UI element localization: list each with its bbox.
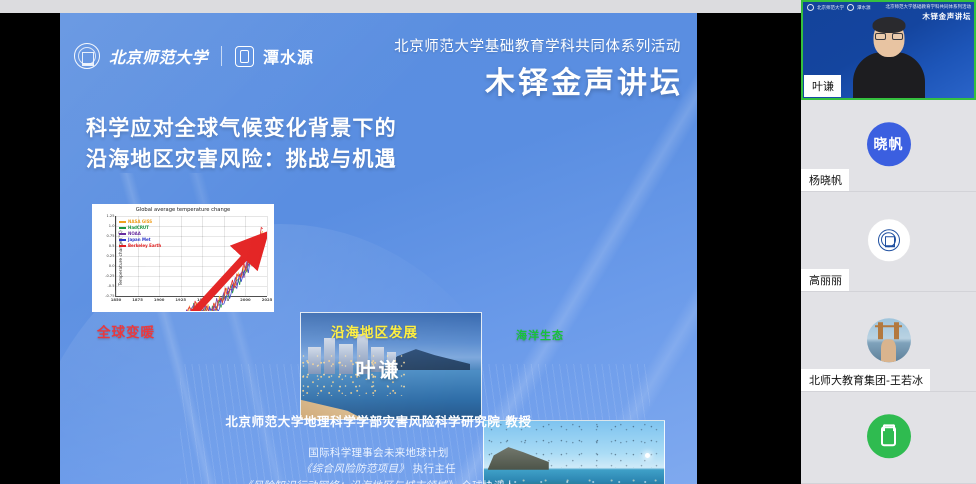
slide-title-line-1: 科学应对全球气候变化背景下的 [86,113,397,144]
video-slide-logo-text: 北京师范大学 [817,5,844,11]
forum-title: 木铎金声讲坛 [485,58,683,102]
presentation-slide: 北京师范大学 潭水源 北京师范大学基础教育学科共同体系列活动 木铎金声讲坛 科学… [60,13,697,484]
video-slide-partner-text: 潭水源 [857,5,871,11]
role-line-3: 《风险知识行动网络：沿海地区与城市领域》 全球协调人 [60,478,697,484]
speaker-affiliation: 北京师范大学地理科学学部灾害风险科学研究院 教授 [60,411,697,430]
shared-screen-stage[interactable]: 北京师范大学 潭水源 北京师范大学基础教育学科共同体系列活动 木铎金声讲坛 科学… [0,13,801,484]
chart-y-tick: 0.0 [109,264,115,268]
chart-y-tick: 0.25 [106,254,114,258]
chart-x-tick: 1850 [111,297,122,302]
avatar [867,318,911,362]
role-2-role: 执行主任 [413,463,456,475]
building [324,338,335,374]
participant-name-label: 叶谦 [804,75,841,97]
chart-series-japan-met [151,235,263,312]
caption-global-warming: 全球变暖 [97,321,155,341]
legend-label: Berkeley Earth [128,243,161,249]
building [371,347,384,372]
chart-x-tick: 1950 [197,297,208,302]
city-lights [301,353,405,395]
building [339,344,353,375]
bnu-seal-icon [878,229,900,251]
legend-swatch [119,245,126,246]
speaker-video-figure [852,16,926,98]
coastal-city-photo [300,312,482,420]
speaker-hair [872,17,905,33]
chart-y-tick: 0.5 [109,244,115,248]
sea-shape [301,370,481,419]
role-line-1: 国际科学理事会未来地球计划 [60,445,697,461]
video-slide-forum-title: 木铎金声讲坛 [922,11,971,22]
glasses-icon [875,33,903,40]
participant-tile-app[interactable] [801,392,976,484]
chart-legend-item: Berkeley Earth [119,243,161,249]
video-slide-logos: 北京师范大学 潭水源 [807,4,871,11]
chart-y-tick: 0.75 [106,234,114,238]
building [387,352,396,371]
chart-legend: NASA GISSHadCRUTNOAAJapan MetBerkeley Ea… [119,219,161,249]
chart-y-tick: -0.75 [105,294,114,298]
participant-rail[interactable]: 北京师范大学 潭水源 北京师范大学基础教育学科共同体系列活动 木铎金声讲坛 叶谦… [801,0,976,484]
caption-coastal-development: 沿海地区发展 [331,321,418,341]
beach-shape [301,387,402,419]
legend-swatch [119,221,126,222]
bnu-seal-icon [74,43,100,69]
chart-x-tick: 1975 [219,297,230,302]
headland-shape [377,347,471,375]
event-series-line: 北京师范大学基础教育学科共同体系列活动 [394,35,681,56]
participant-name-label: 北师大教育集团-王若冰 [801,369,930,391]
participant-name-label: 杨晓帆 [801,169,849,191]
chart-y-tick: 1.0 [109,224,115,228]
legend-swatch [119,227,126,228]
caption-marine-ecology: 海洋生态 [516,327,564,343]
chart-x-tick: 2000 [240,297,251,302]
role-2-title: 《综合风险防范项目》 [301,463,409,475]
chart-title: Global average temperature change [93,207,273,213]
logo-divider [221,46,222,66]
speaker-roles: 国际科学理事会未来地球计划 《综合风险防范项目》 执行主任 《风险知识行动网络：… [60,445,697,484]
temperature-chart-card: Global average temperature change Temper… [92,204,274,312]
slide-title-line-2: 沿海地区灾害风险：挑战与机遇 [86,144,397,175]
avatar: 晓帆 [867,122,911,166]
role-line-2: 《综合风险防范项目》 执行主任 [60,461,697,477]
slide-title: 科学应对全球气候变化背景下的 沿海地区灾害风险：挑战与机遇 [86,113,397,174]
building [357,334,368,374]
bnu-seal-icon [807,4,814,11]
meeting-screen: 北京师范大学 潭水源 北京师范大学基础教育学科共同体系列活动 木铎金声讲坛 科学… [0,0,976,484]
partner-brand-icon [235,46,254,67]
slide-image-row: Global average temperature change Temper… [92,204,667,314]
speaker-torso [853,52,925,98]
building [308,347,321,375]
partner-logo-text: 潭水源 [263,44,314,68]
partner-brand-icon [847,4,854,11]
video-slide-series-line: 北京师范大学基础教育学科共同体系列活动 [886,4,972,10]
participant-tile-wangruobing[interactable]: 北师大教育集团-王若冰 [801,292,976,392]
participant-name-label: 高丽丽 [801,269,849,291]
app-document-icon [881,426,896,446]
chart-x-tick: 1900 [154,297,165,302]
avatar [867,414,911,458]
legend-swatch [119,239,126,240]
role-3-title: 《风险知识行动网络：沿海地区与城市领域》 [242,480,458,484]
chart-y-tick: 1.25 [106,214,114,218]
chart-x-tick: 1875 [132,297,143,302]
chart-x-tick: 1925 [175,297,186,302]
participant-tile-active-speaker[interactable]: 北京师范大学 潭水源 北京师范大学基础教育学科共同体系列活动 木铎金声讲坛 叶谦 [801,0,976,100]
logo-group: 北京师范大学 潭水源 [74,43,314,69]
avatar [867,218,911,262]
university-logo-text: 北京师范大学 [109,44,208,68]
participant-tile-yangxiaofan[interactable]: 晓帆 杨晓帆 [801,100,976,192]
speaker-name: 叶谦 [60,354,697,383]
legend-swatch [119,233,126,234]
chart-y-tick: -0.25 [105,274,114,278]
person-silhouette [881,339,895,362]
chart-y-tick: -0.5 [107,284,114,288]
role-3-role: 全球协调人 [461,480,515,484]
slide-header: 北京师范大学 潭水源 北京师范大学基础教育学科共同体系列活动 木铎金声讲坛 [60,13,697,97]
participant-tile-gaolili[interactable]: 高丽丽 [801,192,976,292]
chart-x-tick: 2025 [262,297,273,302]
